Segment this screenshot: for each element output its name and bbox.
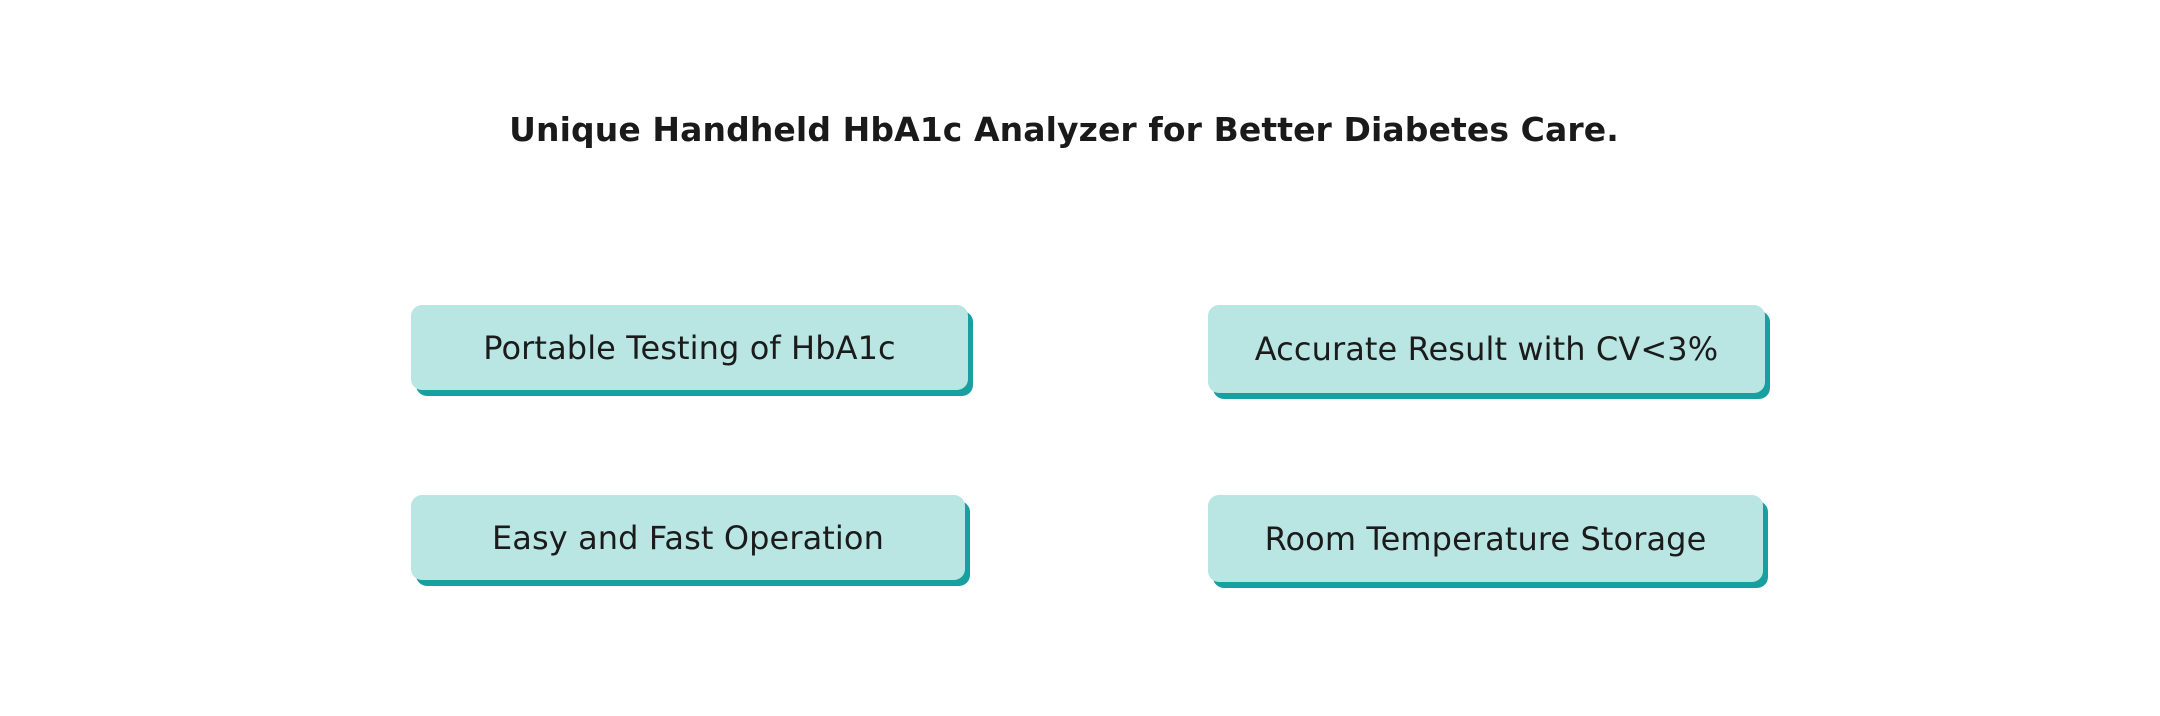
page-title: Unique Handheld HbA1c Analyzer for Bette… (0, 110, 2128, 150)
feature-label: Portable Testing of HbA1c (483, 329, 896, 367)
feature-label: Room Temperature Storage (1265, 520, 1707, 558)
feature-label: Easy and Fast Operation (492, 519, 884, 557)
feature-box-easy-and-fast-operation[interactable]: Easy and Fast Operation (411, 495, 965, 580)
slide-canvas: Unique Handheld HbA1c Analyzer for Bette… (0, 0, 2160, 716)
feature-box-portable-testing[interactable]: Portable Testing of HbA1c (411, 305, 968, 390)
feature-box-accurate-result[interactable]: Accurate Result with CV<3% (1208, 305, 1765, 393)
feature-label: Accurate Result with CV<3% (1255, 330, 1719, 368)
feature-box-room-temperature-storage[interactable]: Room Temperature Storage (1208, 495, 1763, 582)
